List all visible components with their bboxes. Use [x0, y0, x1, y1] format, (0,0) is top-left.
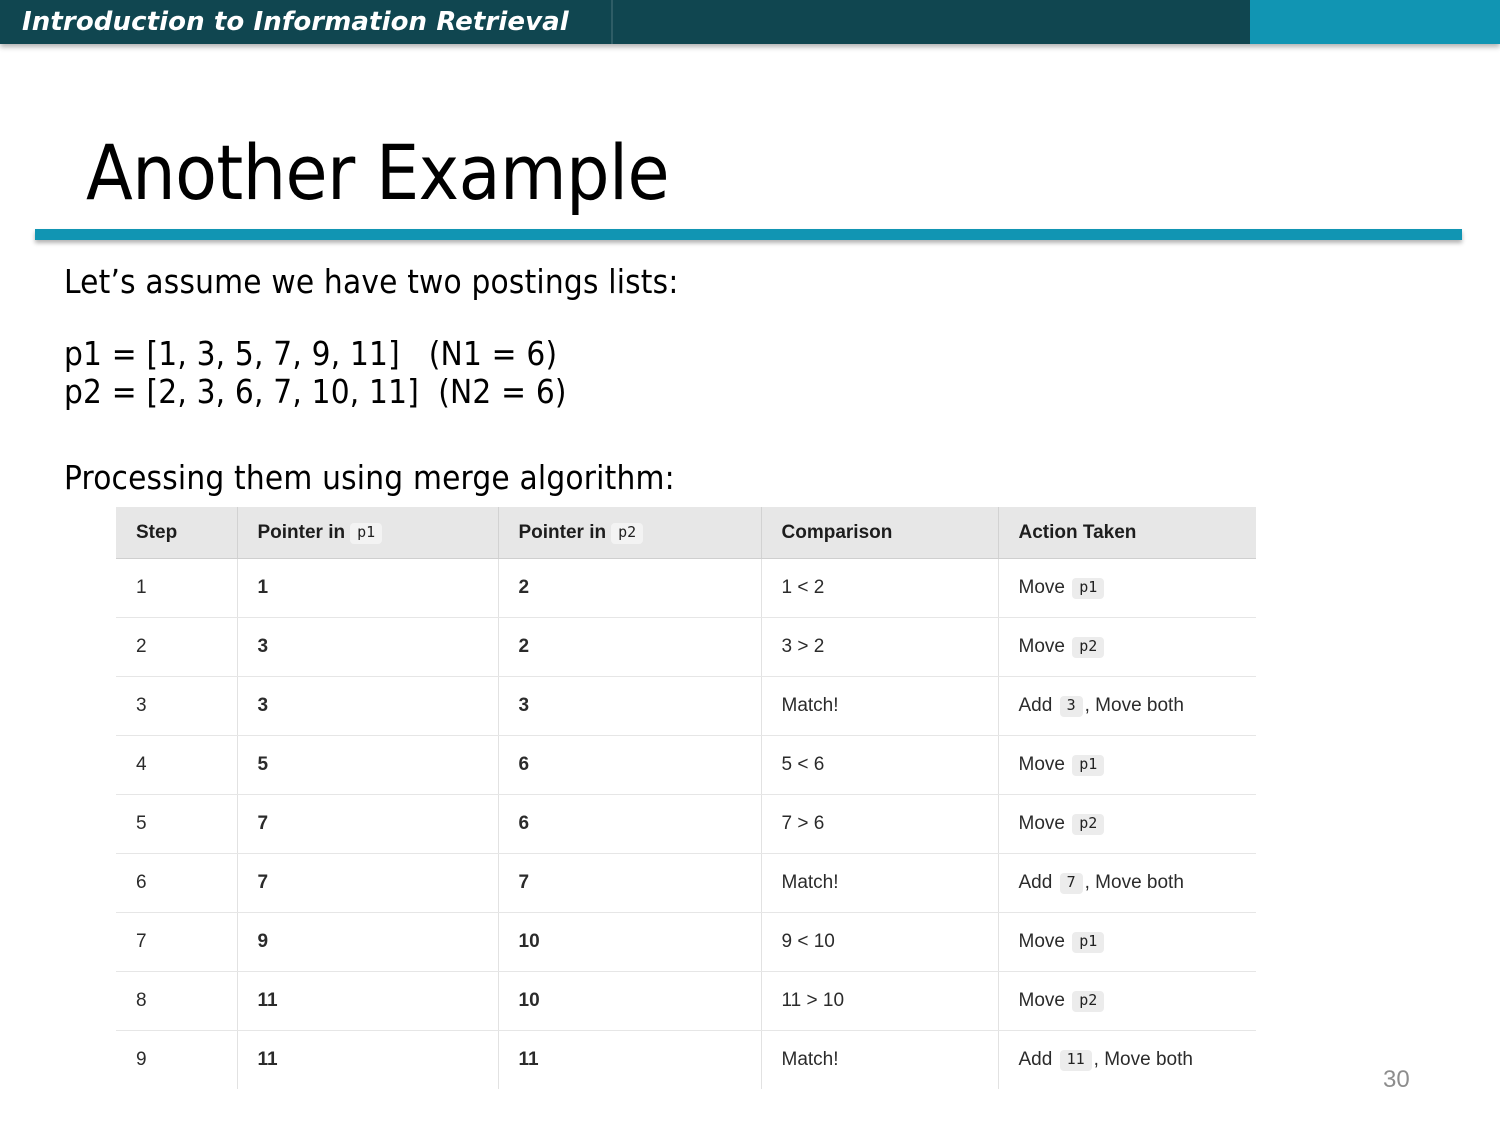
cell-step: 9 [116, 1031, 237, 1090]
action-code-chip: p2 [1072, 814, 1104, 835]
merge-steps-table-container: StepPointer inp1Pointer inp2ComparisonAc… [116, 507, 1256, 1089]
action-code-chip: p2 [1072, 637, 1104, 658]
action-code-chip: 3 [1060, 696, 1083, 717]
table-row: 79109 < 10Move p1 [116, 913, 1256, 972]
cell-pointer-p1: 5 [237, 736, 498, 795]
cell-pointer-p1: 11 [237, 1031, 498, 1090]
cell-comparison: 1 < 2 [761, 559, 998, 618]
cell-step: 7 [116, 913, 237, 972]
banner-divider [611, 0, 613, 44]
cell-action-taken: Move p1 [998, 736, 1256, 795]
table-column-header: Comparison [761, 507, 998, 559]
cell-pointer-p2: 3 [498, 677, 761, 736]
postings-list-p2: p2 = [2, 3, 6, 7, 10, 11] (N2 = 6) [64, 372, 567, 411]
cell-comparison: Match! [761, 1031, 998, 1090]
cell-pointer-p1: 11 [237, 972, 498, 1031]
action-verb: Move [1019, 990, 1065, 1011]
cell-step: 3 [116, 677, 237, 736]
cell-pointer-p2: 7 [498, 854, 761, 913]
cell-comparison: 5 < 6 [761, 736, 998, 795]
banner-title: Introduction to Information Retrieval [22, 0, 569, 44]
cell-pointer-p2: 6 [498, 736, 761, 795]
cell-comparison: 3 > 2 [761, 618, 998, 677]
table-column-header: Pointer inp1 [237, 507, 498, 559]
table-row: 2323 > 2Move p2 [116, 618, 1256, 677]
table-body: 1121 < 2Move p12323 > 2Move p2333Match!A… [116, 559, 1256, 1090]
process-caption: Processing them using merge algorithm: [64, 458, 675, 497]
cell-step: 8 [116, 972, 237, 1031]
column-header-label: Pointer in [258, 522, 346, 543]
cell-pointer-p2: 2 [498, 618, 761, 677]
column-header-label: Comparison [782, 522, 893, 543]
cell-pointer-p2: 10 [498, 913, 761, 972]
table-column-header: Step [116, 507, 237, 559]
action-code-chip: p1 [1072, 755, 1104, 776]
cell-action-taken: Move p2 [998, 795, 1256, 854]
cell-step: 5 [116, 795, 237, 854]
action-suffix: , Move both [1094, 1049, 1193, 1070]
intro-text: Let’s assume we have two postings lists: [64, 262, 679, 301]
action-code-chip: p1 [1072, 578, 1104, 599]
cell-comparison: 7 > 6 [761, 795, 998, 854]
cell-comparison: 11 > 10 [761, 972, 998, 1031]
column-header-label: Action Taken [1019, 522, 1137, 543]
action-verb: Add [1019, 872, 1053, 893]
page-title: Another Example [86, 128, 669, 217]
table-row: 91111Match!Add 11, Move both [116, 1031, 1256, 1090]
action-suffix: , Move both [1085, 872, 1184, 893]
cell-action-taken: Add 11, Move both [998, 1031, 1256, 1090]
cell-pointer-p2: 2 [498, 559, 761, 618]
action-code-chip: 11 [1060, 1050, 1092, 1071]
cell-pointer-p1: 9 [237, 913, 498, 972]
column-header-label: Pointer in [519, 522, 607, 543]
table-row: 1121 < 2Move p1 [116, 559, 1256, 618]
cell-action-taken: Move p1 [998, 913, 1256, 972]
cell-action-taken: Add 7, Move both [998, 854, 1256, 913]
column-header-label: Step [136, 522, 177, 543]
cell-step: 1 [116, 559, 237, 618]
table-row: 5767 > 6Move p2 [116, 795, 1256, 854]
action-code-chip: p2 [1072, 991, 1104, 1012]
cell-step: 2 [116, 618, 237, 677]
cell-action-taken: Move p1 [998, 559, 1256, 618]
column-header-code-chip: p2 [611, 523, 643, 544]
cell-pointer-p2: 6 [498, 795, 761, 854]
cell-pointer-p1: 3 [237, 618, 498, 677]
presentation-banner: Introduction to Information Retrieval [0, 0, 1500, 44]
action-code-chip: 7 [1060, 873, 1083, 894]
cell-comparison: Match! [761, 677, 998, 736]
table-header-row: StepPointer inp1Pointer inp2ComparisonAc… [116, 507, 1256, 559]
cell-comparison: Match! [761, 854, 998, 913]
cell-pointer-p2: 11 [498, 1031, 761, 1090]
cell-pointer-p1: 1 [237, 559, 498, 618]
cell-action-taken: Move p2 [998, 618, 1256, 677]
cell-pointer-p1: 3 [237, 677, 498, 736]
merge-steps-table: StepPointer inp1Pointer inp2ComparisonAc… [116, 507, 1256, 1089]
cell-action-taken: Add 3, Move both [998, 677, 1256, 736]
table-column-header: Action Taken [998, 507, 1256, 559]
slide-page-number: 30 [1383, 1066, 1410, 1094]
cell-pointer-p1: 7 [237, 795, 498, 854]
cell-pointer-p1: 7 [237, 854, 498, 913]
table-row: 4565 < 6Move p1 [116, 736, 1256, 795]
action-verb: Add [1019, 1049, 1053, 1070]
table-column-header: Pointer inp2 [498, 507, 761, 559]
action-suffix: , Move both [1085, 695, 1184, 716]
table-row: 8111011 > 10Move p2 [116, 972, 1256, 1031]
table-row: 677Match!Add 7, Move both [116, 854, 1256, 913]
cell-pointer-p2: 10 [498, 972, 761, 1031]
action-verb: Move [1019, 754, 1065, 775]
cell-action-taken: Move p2 [998, 972, 1256, 1031]
action-verb: Add [1019, 695, 1053, 716]
title-underline-rule [35, 229, 1462, 240]
action-verb: Move [1019, 636, 1065, 657]
action-code-chip: p1 [1072, 932, 1104, 953]
action-verb: Move [1019, 813, 1065, 834]
table-header: StepPointer inp1Pointer inp2ComparisonAc… [116, 507, 1256, 559]
action-verb: Move [1019, 931, 1065, 952]
postings-list-p1: p1 = [1, 3, 5, 7, 9, 11] (N1 = 6) [64, 334, 557, 373]
table-row: 333Match!Add 3, Move both [116, 677, 1256, 736]
column-header-code-chip: p1 [350, 523, 382, 544]
cell-step: 4 [116, 736, 237, 795]
action-verb: Move [1019, 577, 1065, 598]
cell-step: 6 [116, 854, 237, 913]
cell-comparison: 9 < 10 [761, 913, 998, 972]
